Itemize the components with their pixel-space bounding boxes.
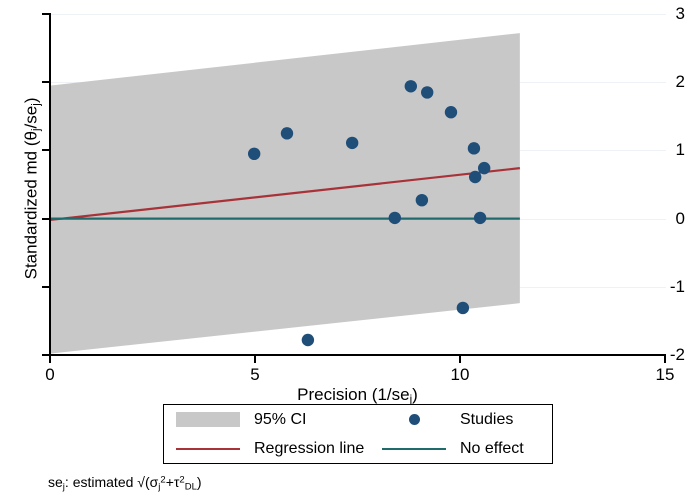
y-axis-title-mid: /se — [22, 106, 41, 129]
study-point-7 — [421, 86, 433, 98]
plot-area — [50, 14, 665, 355]
x-tick-10 — [459, 356, 461, 363]
x-axis-title-tail: ) — [412, 385, 418, 404]
study-point-10 — [468, 142, 480, 154]
y-axis-title: Standardized md (θj/sej) — [22, 38, 43, 338]
figure-footnote: sej: estimated √(σj2+τ2DL) — [48, 474, 202, 492]
y-axis-title-sub2: j — [30, 103, 42, 106]
y-axis-title-theta: θ — [22, 131, 41, 140]
y-tick-0 — [42, 218, 50, 220]
chart-legend: 95% CI Studies Regression line No effect — [163, 404, 553, 464]
y-tick-label-3: 3 — [649, 5, 685, 22]
y-tick-1 — [42, 149, 50, 151]
footnote-prefix: se — [48, 474, 63, 490]
funnel-plot-figure: -2-10123 051015 Precision (1/sej) Standa… — [0, 0, 685, 500]
regression-line-swatch — [176, 448, 240, 450]
legend-label-ci: 95% CI — [252, 411, 370, 429]
footnote-sub3: DL — [185, 481, 197, 492]
x-tick-label-10: 10 — [430, 366, 490, 384]
y-axis-title-main: Standardized md ( — [22, 140, 41, 279]
study-point-4 — [389, 212, 401, 224]
y-tick-label--2: -2 — [649, 346, 685, 363]
legend-key-noeffect — [370, 434, 458, 463]
study-point-11 — [469, 171, 481, 183]
y-tick-3 — [42, 13, 50, 15]
series-overlay — [50, 14, 665, 355]
legend-label-studies: Studies — [458, 411, 550, 429]
study-point-5 — [405, 80, 417, 92]
footnote-tail: ) — [197, 474, 202, 490]
y-axis-line — [49, 13, 51, 356]
study-point-3 — [346, 137, 358, 149]
study-point-8 — [445, 106, 457, 118]
y-tick--1 — [42, 286, 50, 288]
y-tick-label--1: -1 — [649, 278, 685, 295]
y-tick-label-2: 2 — [649, 73, 685, 90]
legend-key-ci — [164, 405, 252, 434]
x-tick-label-15: 15 — [635, 366, 685, 384]
study-point-13 — [478, 162, 490, 174]
study-point-9 — [457, 302, 469, 314]
x-tick-label-0: 0 — [20, 366, 80, 384]
legend-key-regression — [164, 434, 252, 463]
x-axis-line — [49, 354, 666, 356]
y-axis-title-sub1: j — [30, 128, 42, 131]
footnote-plus: +τ — [166, 474, 180, 490]
study-point-12 — [474, 212, 486, 224]
study-point-2 — [302, 334, 314, 346]
studies-dot-marker — [409, 414, 420, 425]
study-points — [248, 80, 490, 346]
legend-label-regression: Regression line — [252, 440, 370, 458]
legend-key-studies — [370, 405, 458, 434]
y-tick-label-0: 0 — [649, 210, 685, 227]
legend-label-noeffect: No effect — [458, 440, 550, 458]
x-axis-title-main: Precision (1/se — [297, 385, 409, 404]
x-tick-label-5: 5 — [225, 366, 285, 384]
study-point-0 — [248, 148, 260, 160]
x-tick-15 — [664, 356, 666, 363]
y-axis-title-tail: ) — [22, 98, 41, 104]
study-point-1 — [281, 127, 293, 139]
x-axis-title: Precision (1/sej) — [49, 385, 666, 406]
y-tick-label-1: 1 — [649, 141, 685, 158]
regression-line — [50, 168, 520, 220]
no-effect-line-swatch — [382, 448, 446, 450]
ci-band-swatch — [176, 412, 240, 427]
x-tick-0 — [49, 356, 51, 363]
y-tick-2 — [42, 81, 50, 83]
footnote-middle: : estimated √(σ — [65, 474, 158, 490]
study-point-6 — [416, 194, 428, 206]
x-tick-5 — [254, 356, 256, 363]
